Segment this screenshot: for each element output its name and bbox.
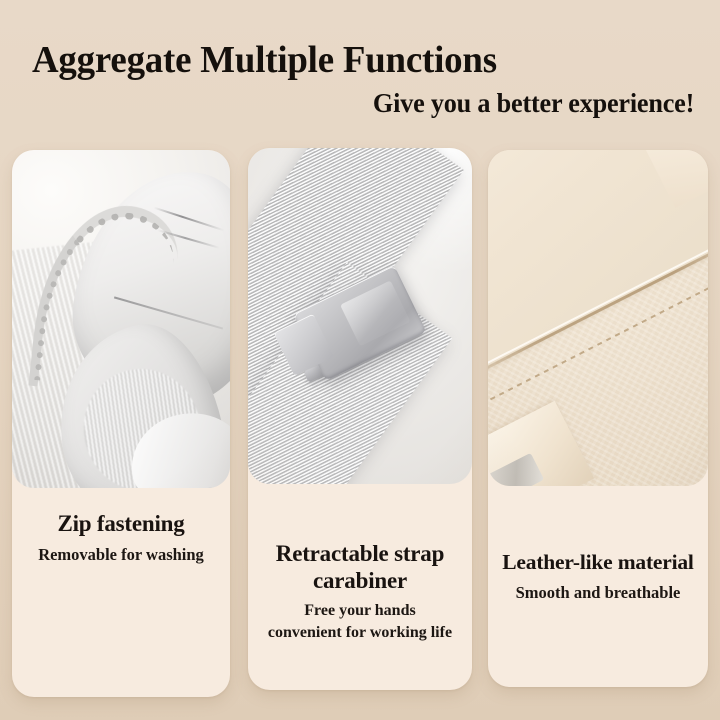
feature-caption-leather-like-material: Leather-like material Smooth and breatha… — [488, 550, 708, 604]
feature-photo-leather-like-material — [488, 150, 708, 486]
feature-photo-retractable-strap-carabiner — [248, 148, 472, 484]
feature-card-retractable-strap-carabiner[interactable]: Retractable strap carabiner Free your ha… — [248, 148, 472, 690]
feature-card-leather-like-material[interactable]: Leather-like material Smooth and breatha… — [488, 150, 708, 687]
page-subtitle: Give you a better experience! — [373, 88, 694, 119]
feature-subtitle-line2: convenient for working life — [256, 623, 464, 644]
feature-subtitle: Smooth and breathable — [496, 582, 700, 603]
page-title: Aggregate Multiple Functions — [32, 38, 497, 82]
infographic-stage: Aggregate Multiple Functions Give you a … — [0, 0, 720, 720]
feature-title: Retractable strap carabiner — [256, 540, 464, 594]
feature-caption-retractable-strap-carabiner: Retractable strap carabiner Free your ha… — [248, 540, 472, 644]
feature-photo-zip-fastening — [12, 150, 230, 488]
feature-title: Zip fastening — [20, 510, 222, 537]
feature-card-zip-fastening[interactable]: Zip fastening Removable for washing — [12, 150, 230, 697]
feature-subtitle-line1: Free your hands — [256, 601, 464, 622]
strap-buckle-image — [248, 148, 472, 484]
feature-title: Leather-like material — [496, 550, 700, 575]
feature-caption-zip-fastening: Zip fastening Removable for washing — [12, 510, 230, 566]
fabric-zipper-image — [12, 150, 230, 488]
feature-subtitle: Removable for washing — [20, 544, 222, 565]
leather-material-image — [488, 150, 708, 486]
